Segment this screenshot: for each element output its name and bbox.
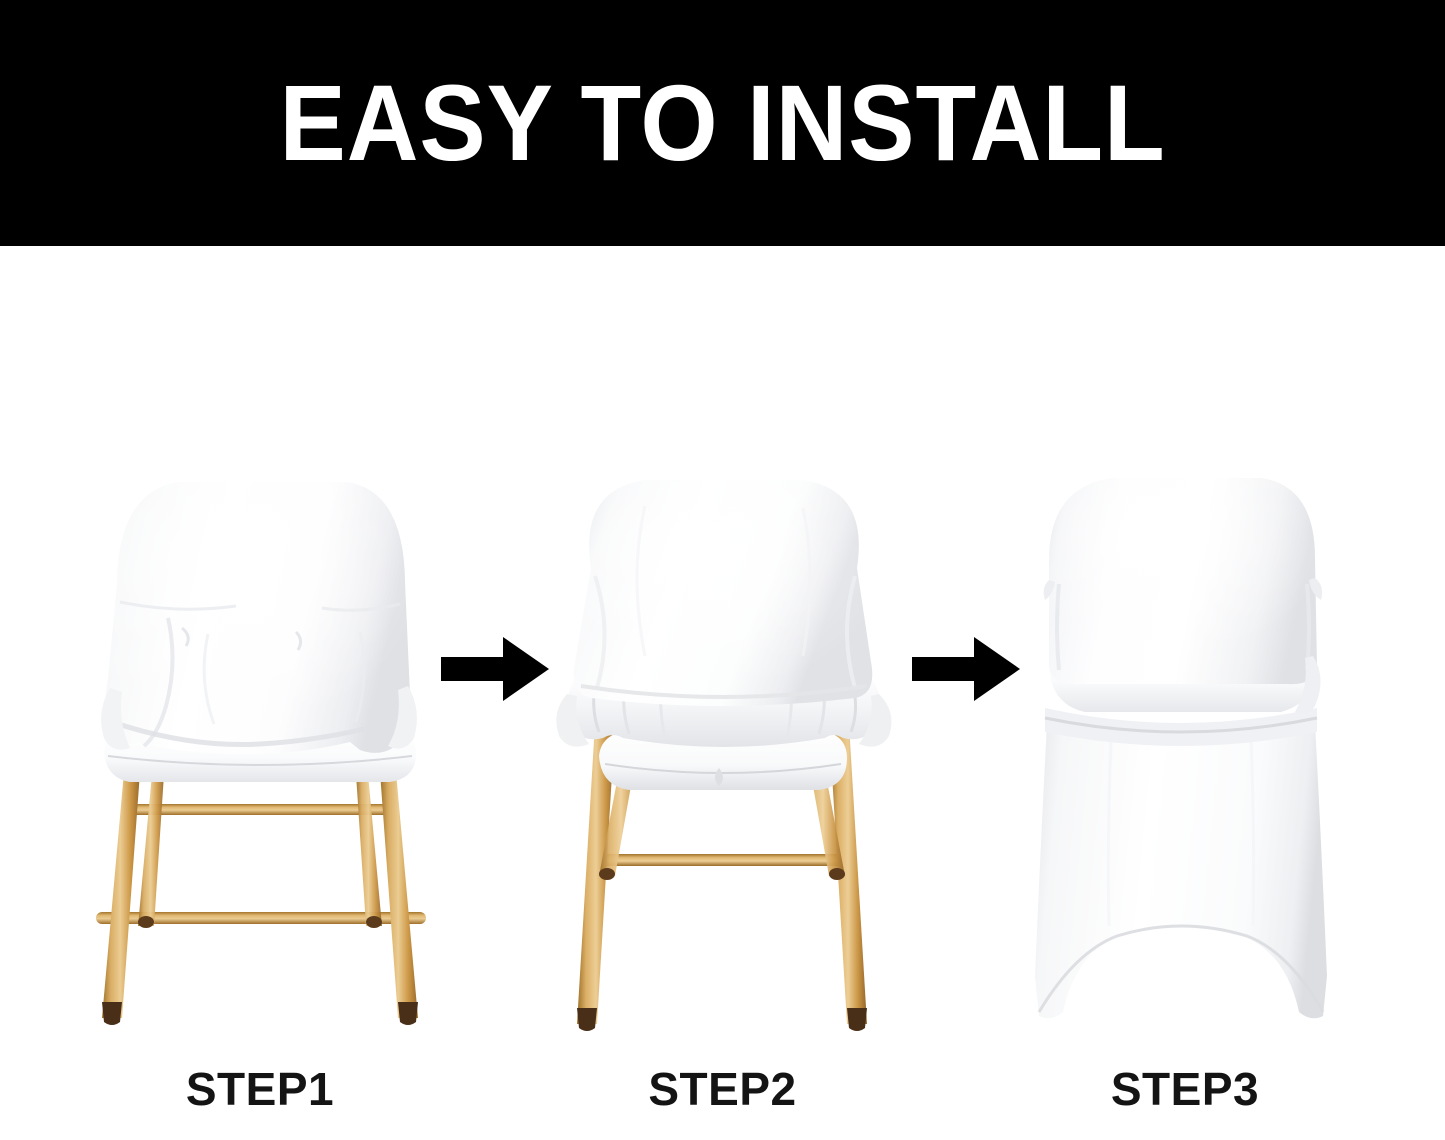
step-1-label: STEP1 [25,1062,495,1116]
header-banner: EASY TO INSTALL [0,0,1445,246]
cover-backrest [1044,478,1322,714]
chair-cover-gathered-illustration [533,456,913,1056]
chair-cover-draped [101,482,417,754]
step-item-1: STEP1 [25,246,495,1140]
page-title: EASY TO INSTALL [279,69,1165,177]
cover-skirt [1035,724,1327,1018]
chair-cover-installed-illustration [1015,456,1355,1056]
step-1-figure [25,246,495,1056]
step-item-3: STEP3 [950,246,1420,1140]
step-2-label: STEP2 [495,1062,950,1116]
step-3-figure [950,246,1420,1056]
step-3-label: STEP3 [950,1062,1420,1116]
chair-frame-group [96,772,426,1025]
installation-steps-row: STEP1 [0,246,1445,1140]
chair-draped-cover-illustration [60,456,460,1056]
step-2-figure [495,246,950,1056]
step-item-2: STEP2 [495,246,950,1140]
chair-cover-back [573,480,872,706]
